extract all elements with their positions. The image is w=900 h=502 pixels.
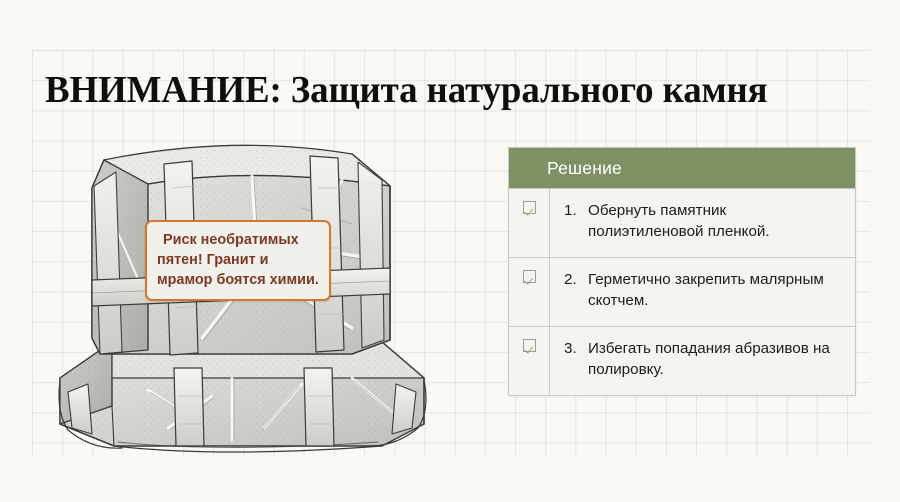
- checked-checkbox-icon[interactable]: [523, 339, 536, 352]
- row-text-cell: 1. Обернуть памятник полиэтиленовой плен…: [550, 189, 855, 253]
- row-checkbox-cell[interactable]: [509, 258, 550, 326]
- row-text: Обернуть памятник полиэтиленовой пленкой…: [588, 200, 845, 242]
- checked-checkbox-icon[interactable]: [523, 270, 536, 283]
- checked-checkbox-icon[interactable]: [523, 201, 536, 214]
- table-header: Решение: [509, 148, 855, 188]
- page-title: ВНИМАНИЕ: Защита натурального камня: [45, 68, 831, 112]
- table-row[interactable]: 1. Обернуть памятник полиэтиленовой плен…: [509, 188, 855, 257]
- solution-table: Решение 1. Обернуть памятник полиэтилено…: [508, 147, 856, 396]
- row-text-cell: 2. Герметично закрепить малярным скотчем…: [550, 258, 855, 322]
- callout-line-3: мрамор боятся химии.: [157, 270, 319, 290]
- row-text-cell: 3. Избегать попадания абразивов на полир…: [550, 327, 855, 391]
- row-text: Герметично закрепить малярным скотчем.: [588, 269, 845, 311]
- row-text: Избегать попадания абразивов на полировк…: [588, 338, 845, 380]
- row-number: 2.: [564, 269, 588, 311]
- slide-canvas: ВНИМАНИЕ: Защита натурального камня: [0, 0, 900, 502]
- table-row[interactable]: 3. Избегать попадания абразивов на полир…: [509, 326, 855, 395]
- row-number: 3.: [564, 338, 588, 380]
- risk-warning-callout: Риск необратимых пятен! Гранит и мрамор …: [145, 220, 331, 301]
- row-checkbox-cell[interactable]: [509, 189, 550, 257]
- table-row[interactable]: 2. Герметично закрепить малярным скотчем…: [509, 257, 855, 326]
- table-header-label: Решение: [547, 158, 622, 179]
- callout-line-2: пятен! Гранит и: [157, 250, 319, 270]
- row-checkbox-cell[interactable]: [509, 327, 550, 395]
- callout-line-1: Риск необратимых: [157, 230, 319, 250]
- row-number: 1.: [564, 200, 588, 242]
